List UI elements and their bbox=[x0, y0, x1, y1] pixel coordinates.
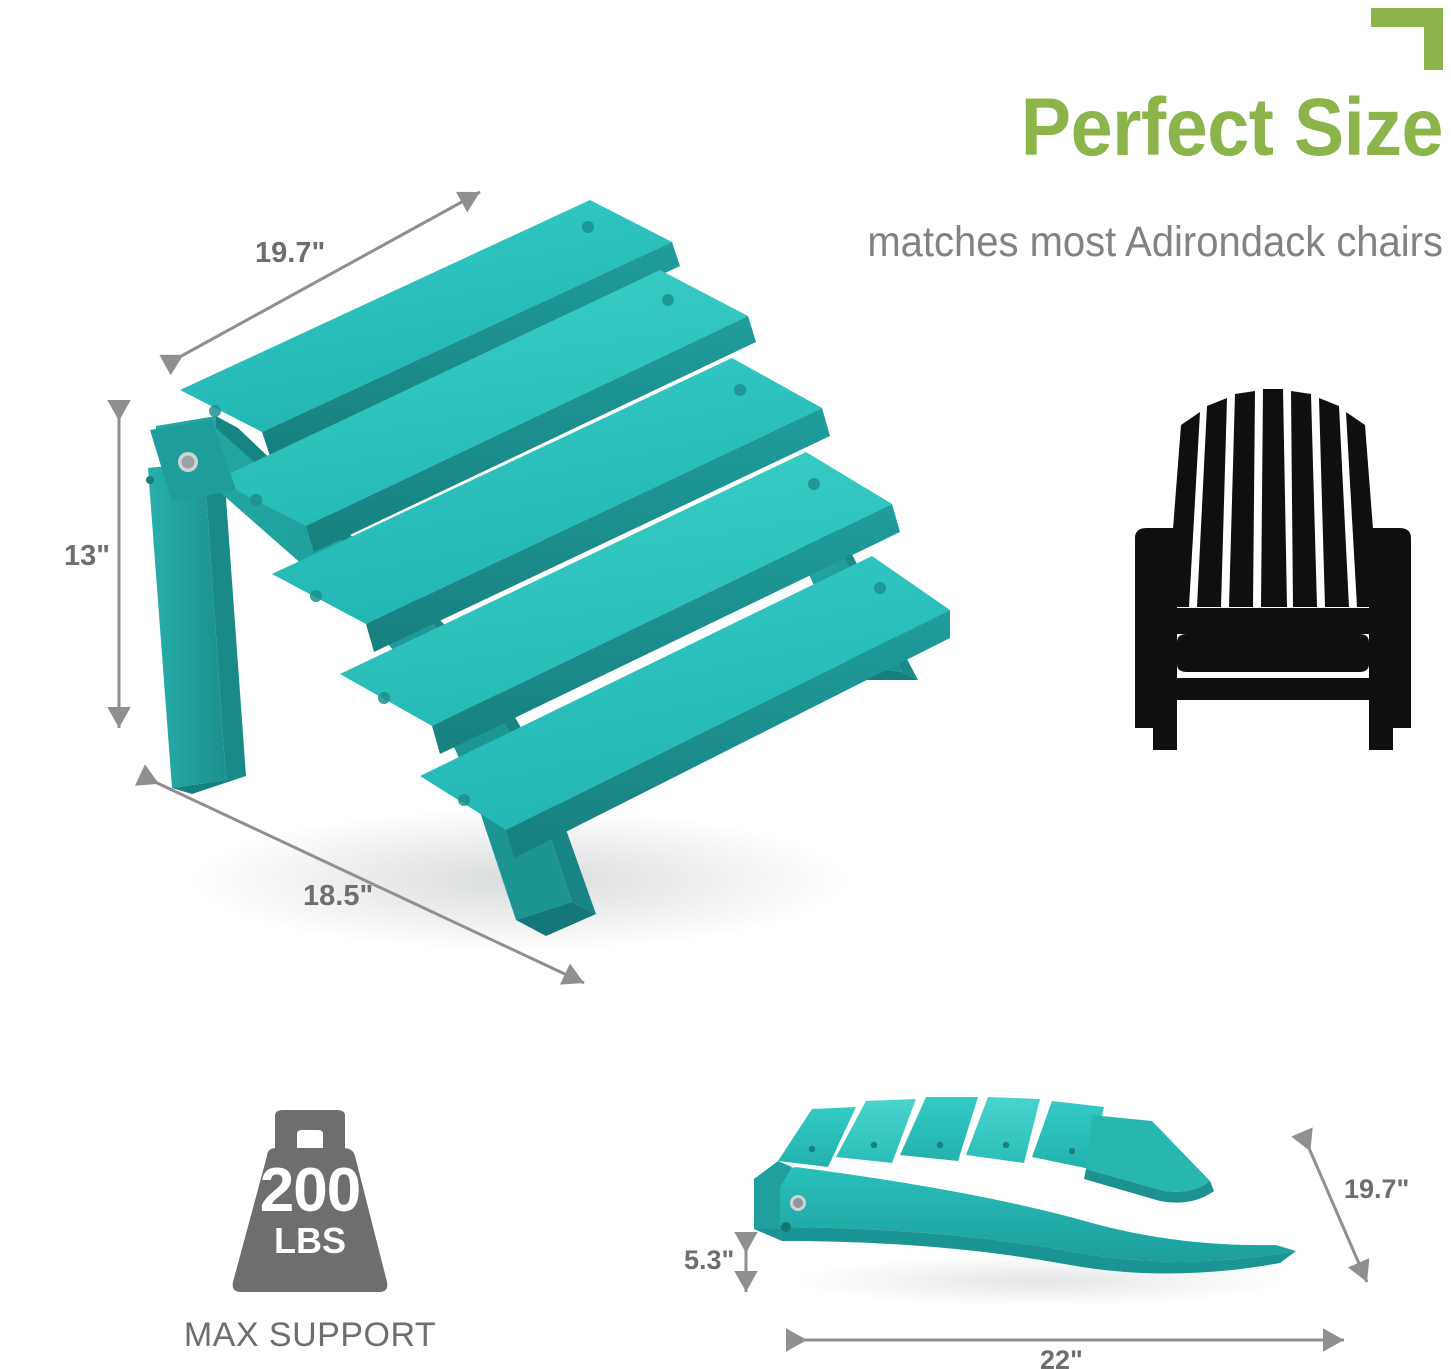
weight-unit: LBS bbox=[205, 1223, 415, 1259]
dimension-label-height-side: 13" bbox=[64, 540, 110, 573]
max-support-badge: 200 LBS MAX SUPPORT bbox=[150, 1110, 470, 1355]
max-support-label: MAX SUPPORT bbox=[150, 1316, 470, 1355]
infographic-page: Perfect Size matches most Adirondack cha… bbox=[0, 0, 1451, 1369]
adirondack-chair-icon bbox=[1125, 372, 1420, 750]
dimension-label-folded-height: 5.3" bbox=[684, 1245, 734, 1276]
ottoman-folded-illustration bbox=[740, 1095, 1320, 1310]
ottoman-open-svg bbox=[120, 180, 950, 970]
page-title: Perfect Size bbox=[854, 88, 1443, 168]
ottoman-open-illustration bbox=[120, 180, 950, 970]
corner-bracket-vertical-bar bbox=[1424, 8, 1443, 70]
weight-icon: 200 LBS bbox=[205, 1110, 415, 1300]
dimension-label-folded-width: 22" bbox=[1040, 1345, 1083, 1369]
dimension-label-folded-depth: 19.7" bbox=[1344, 1174, 1409, 1205]
dimension-label-width-top: 19.7" bbox=[255, 237, 325, 270]
ottoman-leg-rear-left bbox=[148, 462, 246, 794]
corner-bracket-decoration bbox=[1371, 8, 1443, 70]
weight-value: 200 bbox=[205, 1160, 415, 1222]
dimension-label-depth-front: 18.5" bbox=[303, 880, 373, 913]
ottoman-folded-svg bbox=[740, 1095, 1320, 1310]
folded-slats bbox=[778, 1097, 1104, 1169]
